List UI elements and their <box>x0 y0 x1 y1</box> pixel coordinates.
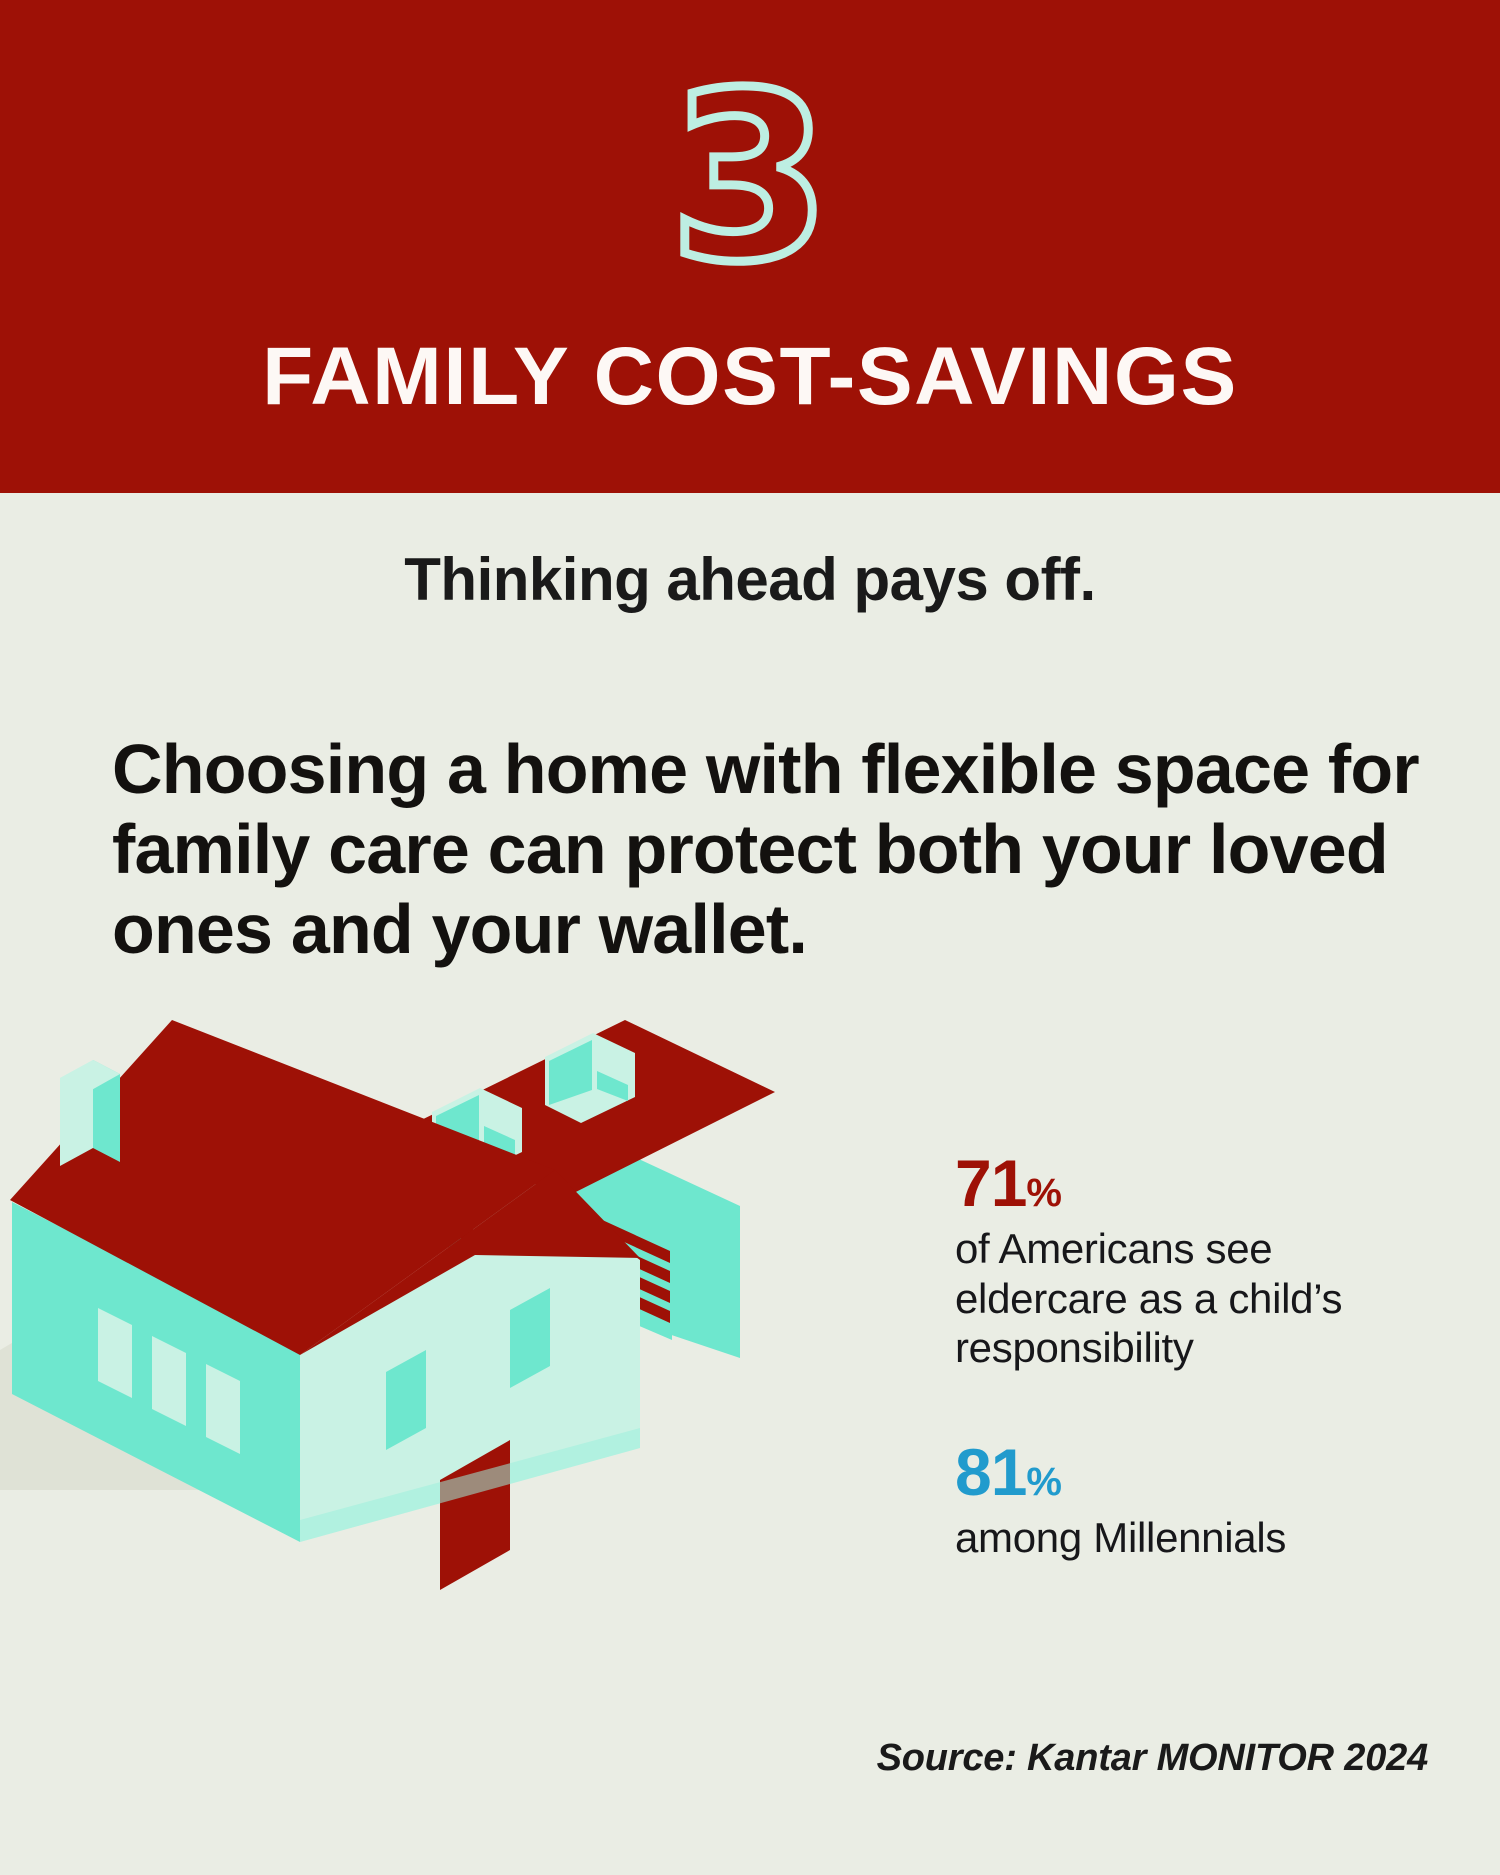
statistics-panel: 71% of Americans see eldercare as a chil… <box>955 1150 1425 1628</box>
house-icon <box>0 1020 820 1640</box>
stat-block-americans: 71% of Americans see eldercare as a chil… <box>955 1150 1425 1373</box>
stat-description-millennials: among Millennials <box>955 1513 1425 1563</box>
page-title: FAMILY COST-SAVINGS <box>0 336 1500 418</box>
stat-value-81: 81% <box>955 1439 1425 1505</box>
stat-number: 71 <box>955 1146 1026 1220</box>
step-number: 3 <box>0 62 1500 294</box>
percent-symbol: % <box>1026 1460 1062 1504</box>
stat-number: 81 <box>955 1435 1026 1509</box>
stat-value-71: 71% <box>955 1150 1425 1216</box>
stat-description-americans: of Americans see eldercare as a child’s … <box>955 1224 1425 1373</box>
house-illustration <box>0 1020 820 1640</box>
lede-text: Thinking ahead pays off. <box>0 548 1500 613</box>
percent-symbol: % <box>1026 1171 1062 1215</box>
source-attribution: Source: Kantar MONITOR 2024 <box>877 1737 1428 1780</box>
stat-block-millennials: 81% among Millennials <box>955 1439 1425 1563</box>
headline-text: Choosing a home with flexible space for … <box>112 730 1442 969</box>
header-band: 3 FAMILY COST-SAVINGS <box>0 0 1500 493</box>
